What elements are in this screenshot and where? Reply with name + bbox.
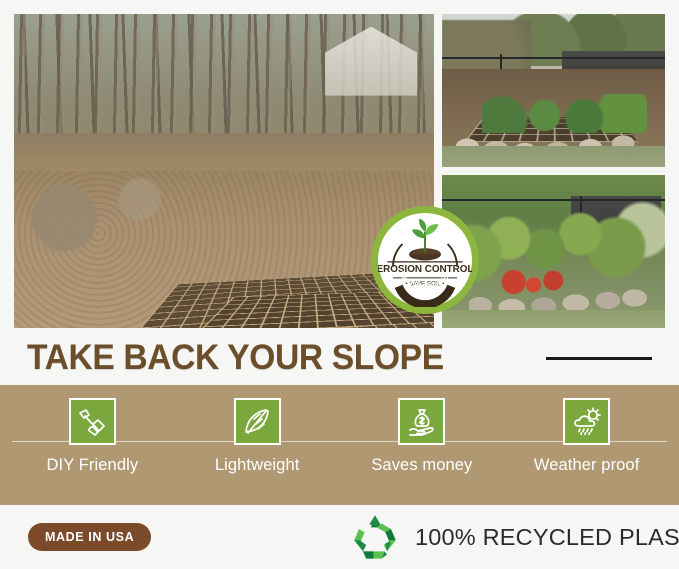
feature-band: DIY Friendly Lightweight	[0, 385, 679, 505]
page-title: TAKE BACK YOUR SLOPE	[27, 338, 444, 378]
sprout-leaf-top-icon	[419, 219, 426, 232]
erosion-control-logo-badge: EROSION CONTROL • SAVE SOIL • Land Stabi…	[371, 206, 479, 314]
feature-label: Lightweight	[215, 456, 300, 475]
photo-main-layers	[14, 14, 434, 328]
recycle-arrows-icon	[349, 513, 401, 561]
feature-saves-money: Saves money	[347, 385, 497, 475]
footer-bar: MADE IN USA 100% RECYCLED PLASTIC	[0, 505, 679, 569]
lawn	[442, 146, 665, 167]
recycled-plastic-group: 100% RECYCLED PLASTIC	[349, 513, 679, 561]
photo-wooded-slope-with-erosion-grid	[14, 14, 434, 328]
sun-cloud-rain-icon	[563, 398, 610, 445]
headline-rule	[546, 357, 652, 360]
logo-top-text: EROSION CONTROL	[378, 264, 472, 275]
lawn	[442, 310, 665, 328]
feature-diy-friendly: DIY Friendly	[17, 385, 167, 475]
feature-list: DIY Friendly Lightweight	[0, 385, 679, 505]
fence-rail	[442, 57, 665, 59]
sprout-leaf-left-icon	[412, 229, 425, 238]
photo-tr-layers	[442, 14, 665, 167]
feature-weather-proof: Weather proof	[512, 385, 662, 475]
feature-lightweight: Lightweight	[182, 385, 332, 475]
hammer-and-tool-icon	[69, 398, 116, 445]
feature-label: Saves money	[371, 456, 472, 475]
hand-holding-money-bag-icon	[398, 398, 445, 445]
feature-label: DIY Friendly	[47, 456, 139, 475]
made-in-usa-badge: MADE IN USA	[28, 523, 151, 551]
photo-collage	[14, 14, 665, 328]
feature-label: Weather proof	[534, 456, 640, 475]
recycled-plastic-label: 100% RECYCLED PLASTIC	[415, 524, 679, 551]
new-plantings	[482, 94, 647, 134]
sprout-leaf-right-icon	[425, 224, 438, 235]
photo-terraced-garden-slope	[442, 14, 665, 167]
logo-inner: EROSION CONTROL • SAVE SOIL • Land Stabi…	[378, 213, 472, 307]
logo-artwork: EROSION CONTROL • SAVE SOIL • Land Stabi…	[378, 213, 472, 307]
feather-icon	[234, 398, 281, 445]
product-infographic: EROSION CONTROL • SAVE SOIL • Land Stabi…	[0, 0, 679, 569]
